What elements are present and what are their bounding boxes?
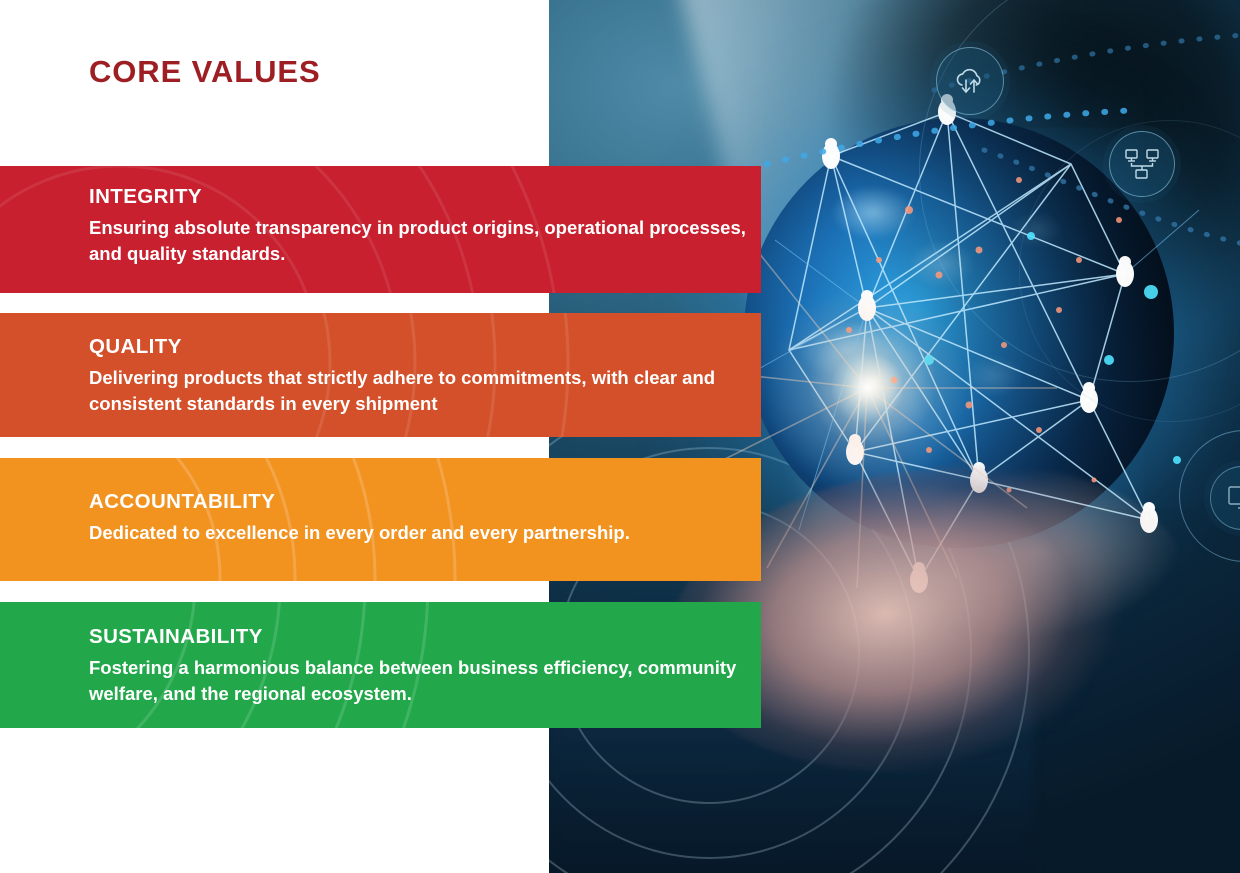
core-values-slide: CORE VALUES INTEGRITY Ensuring absolute … — [0, 0, 1240, 873]
page-title: CORE VALUES — [89, 54, 321, 90]
value-band-accountability: ACCOUNTABILITY Dedicated to excellence i… — [0, 458, 761, 581]
network-devices-icon — [1109, 131, 1175, 197]
value-description: Fostering a harmonious balance between b… — [89, 655, 749, 708]
value-description: Delivering products that strictly adhere… — [89, 365, 749, 418]
value-title: QUALITY — [89, 336, 761, 359]
value-band-integrity: INTEGRITY Ensuring absolute transparency… — [0, 166, 761, 293]
value-band-sustainability: SUSTAINABILITY Fostering a harmonious ba… — [0, 602, 761, 728]
cloud-sync-icon — [936, 47, 1004, 115]
value-description: Ensuring absolute transparency in produc… — [89, 215, 749, 268]
value-title: INTEGRITY — [89, 186, 761, 209]
value-title: SUSTAINABILITY — [89, 626, 761, 649]
value-description: Dedicated to excellence in every order a… — [89, 520, 749, 547]
value-band-quality: QUALITY Delivering products that strictl… — [0, 313, 761, 437]
value-title: ACCOUNTABILITY — [89, 491, 761, 514]
